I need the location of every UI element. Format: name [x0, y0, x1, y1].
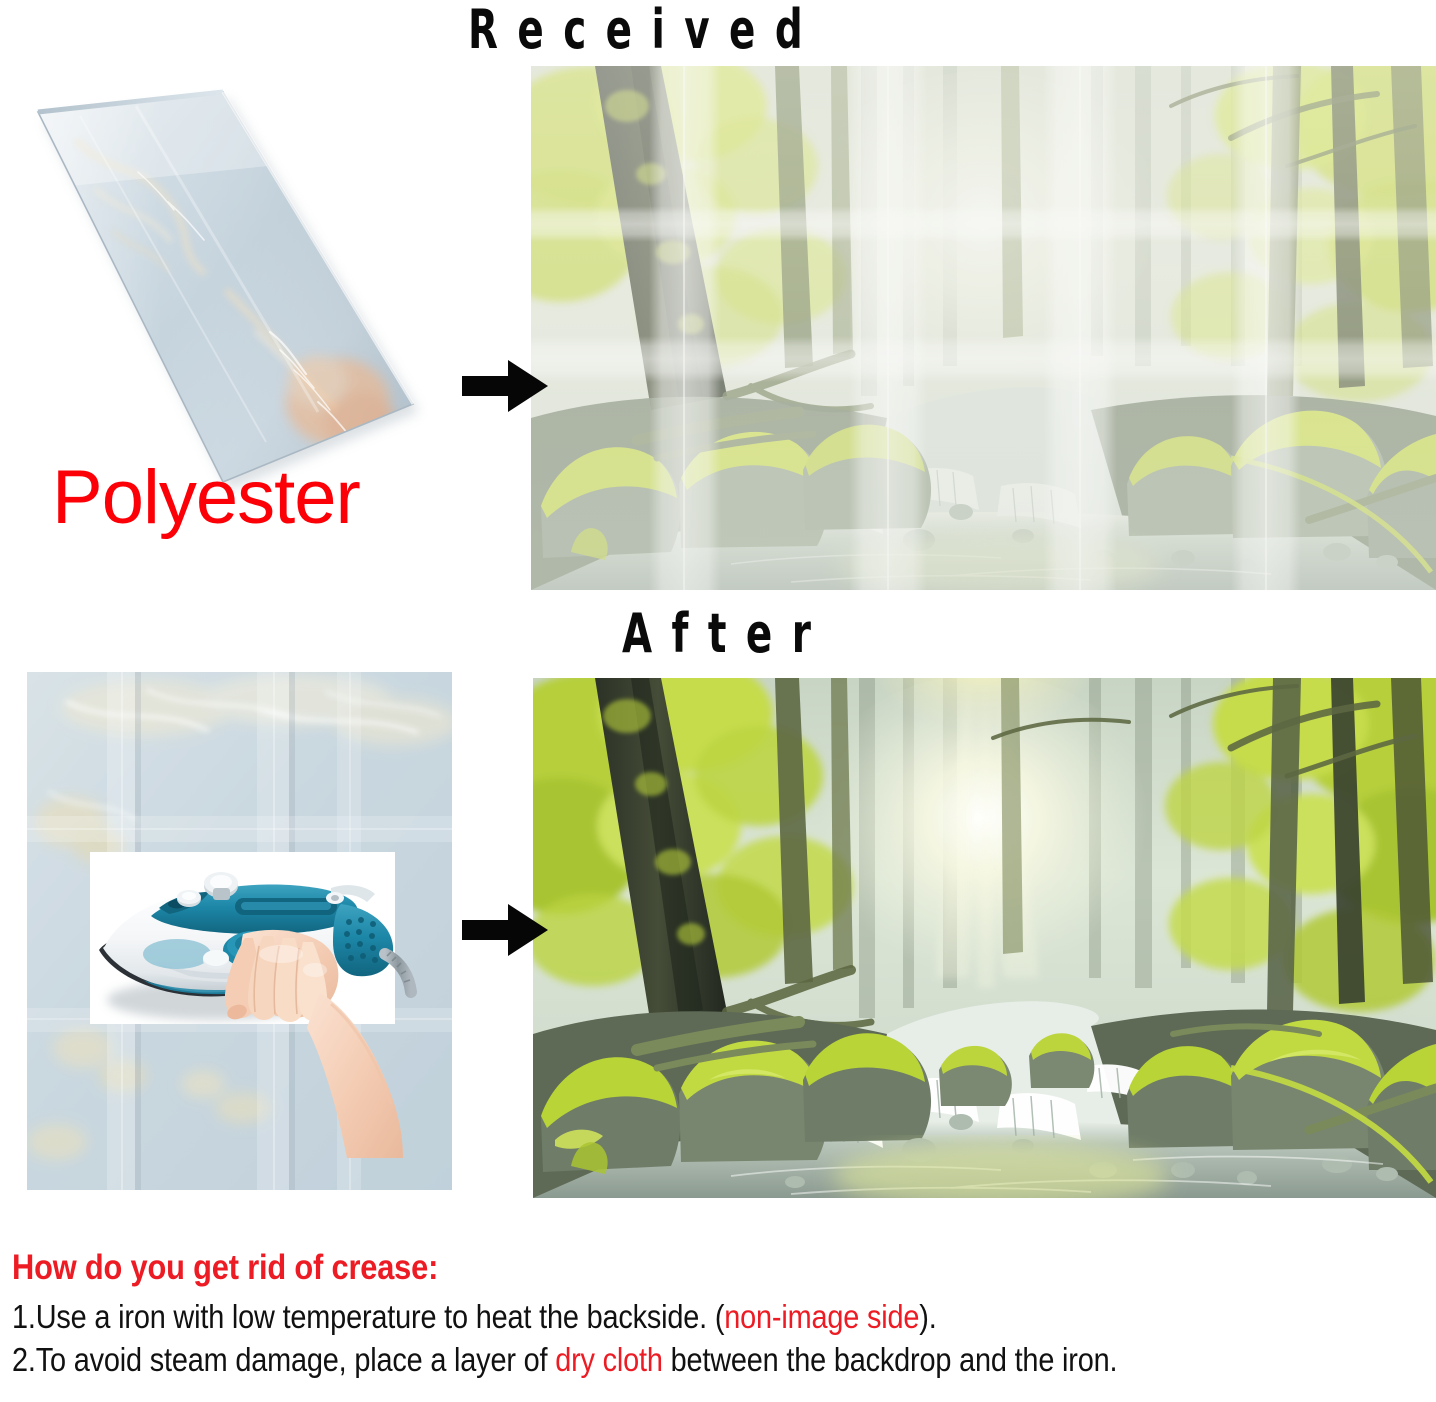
heading-after: After	[622, 602, 830, 665]
polyester-label: Polyester	[52, 460, 360, 536]
after-backdrop-photo	[533, 678, 1436, 1198]
instructions-block: How do you get rid of crease: 1.Use a ir…	[12, 1248, 1436, 1382]
heading-received: Received	[468, 0, 822, 61]
backdrop-backside-panel	[27, 672, 452, 1190]
infographic-canvas: Received	[0, 0, 1436, 1402]
instruction-line-2: 2.To avoid steam damage, place a layer o…	[12, 1339, 1258, 1382]
instruction-line-1-part-b: ).	[919, 1298, 936, 1335]
received-backdrop-photo	[531, 66, 1436, 590]
folded-fabric-swatch	[18, 82, 428, 502]
arrow-right-icon	[462, 358, 548, 414]
instruction-line-2-part-b: between the backdrop and the iron.	[663, 1341, 1118, 1378]
instruction-line-1: 1.Use a iron with low temperature to hea…	[12, 1296, 1258, 1339]
instruction-line-2-part-a: 2.To avoid steam damage, place a layer o…	[12, 1341, 555, 1378]
arrow-right-icon	[462, 902, 548, 958]
instruction-line-2-highlight: dry cloth	[555, 1341, 663, 1378]
instruction-line-1-part-a: 1.Use a iron with low temperature to hea…	[12, 1298, 724, 1335]
instructions-title: How do you get rid of crease:	[12, 1248, 1265, 1287]
instruction-line-1-highlight: non-image side	[724, 1298, 919, 1335]
steam-iron-with-hand-icon	[85, 842, 415, 1117]
